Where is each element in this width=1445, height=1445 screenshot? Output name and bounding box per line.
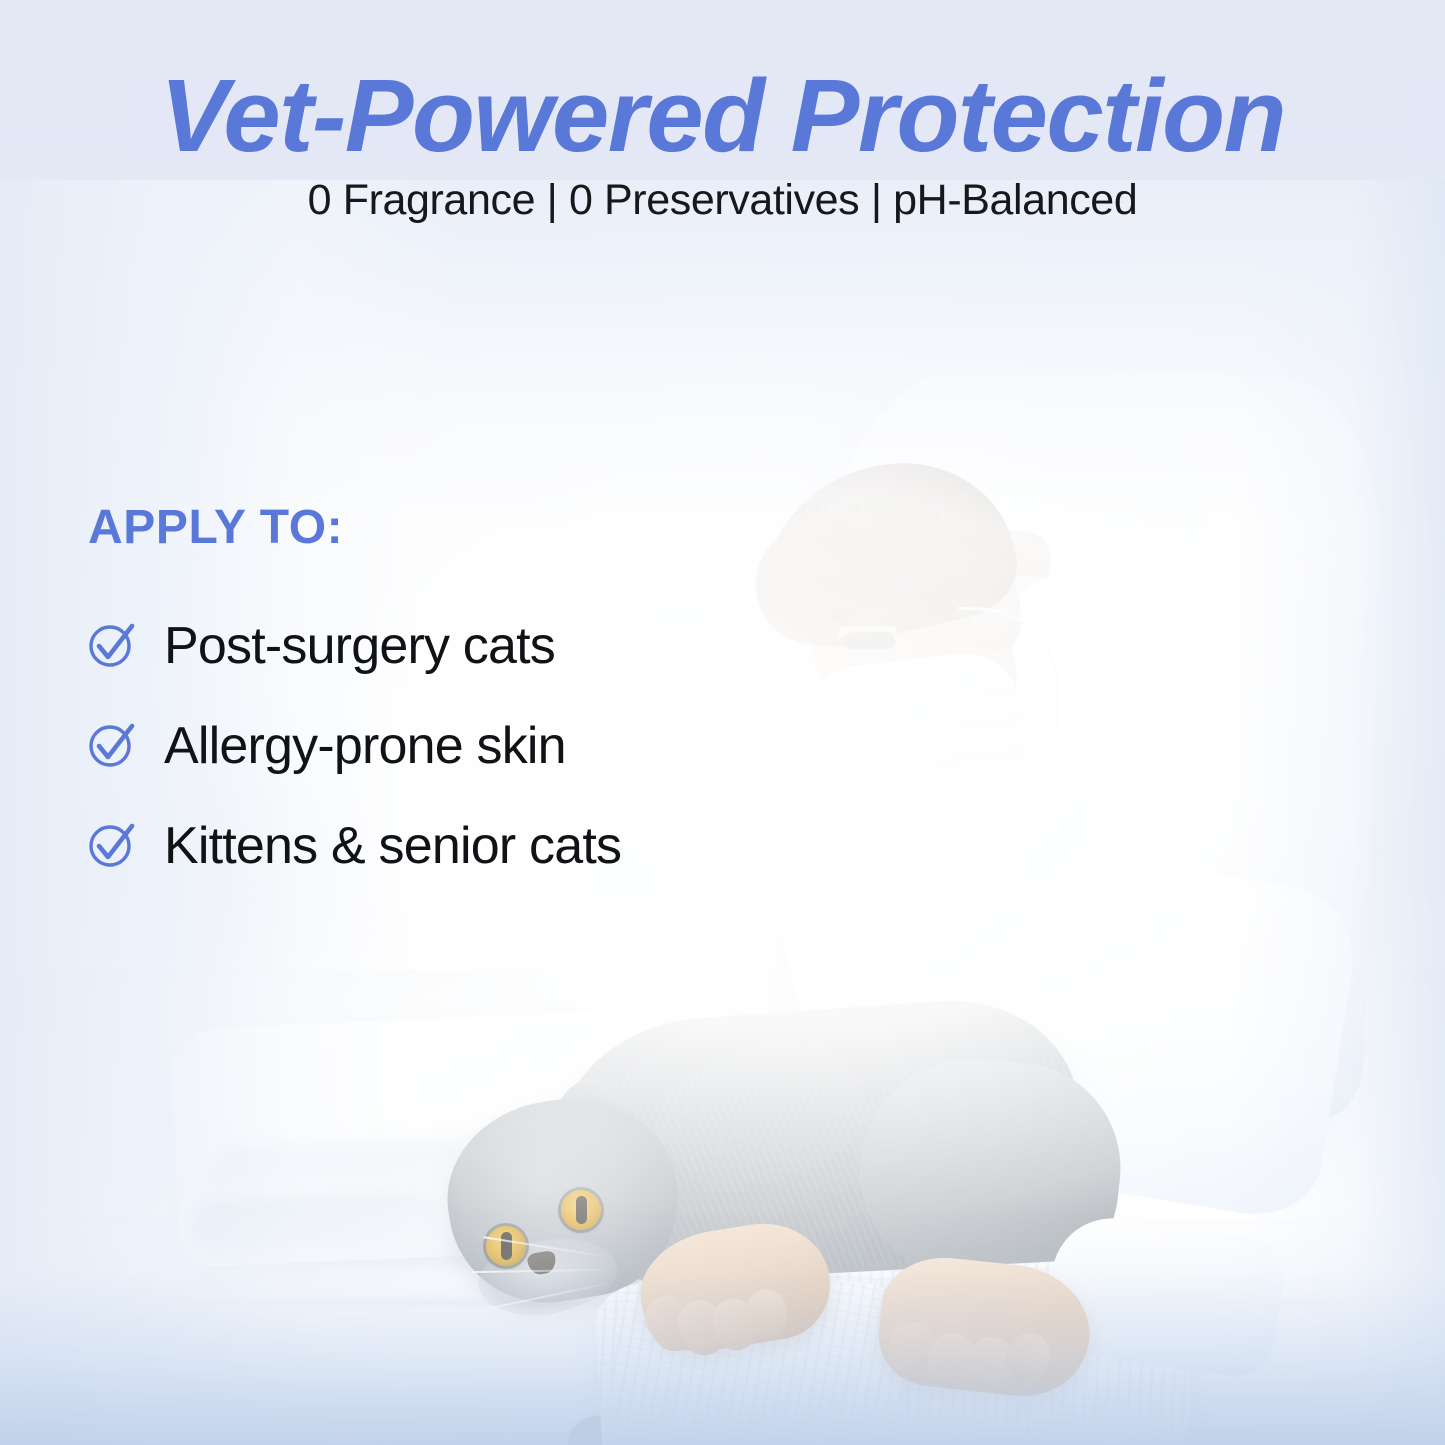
list-item-label: Allergy-prone skin xyxy=(164,720,566,772)
list-item: Post-surgery cats xyxy=(86,596,621,696)
check-circle-icon xyxy=(86,618,138,670)
list-item: Kittens & senior cats xyxy=(86,796,621,896)
list-item-label: Post-surgery cats xyxy=(164,620,555,672)
list-item: Allergy-prone skin xyxy=(86,696,621,796)
check-circle-icon xyxy=(86,718,138,770)
apply-to-list: Post-surgery cats Allergy-prone skin Kit… xyxy=(86,596,621,896)
text-layer: Vet-Powered Protection 0 Fragrance | 0 P… xyxy=(0,0,1445,1445)
check-circle-icon xyxy=(86,818,138,870)
list-item-label: Kittens & senior cats xyxy=(164,820,621,872)
poster-canvas: Vet-Powered Protection 0 Fragrance | 0 P… xyxy=(0,0,1445,1445)
apply-to-label: APPLY TO: xyxy=(88,500,343,555)
subheadline: 0 Fragrance | 0 Preservatives | pH-Balan… xyxy=(0,176,1445,225)
headline: Vet-Powered Protection xyxy=(0,60,1445,171)
